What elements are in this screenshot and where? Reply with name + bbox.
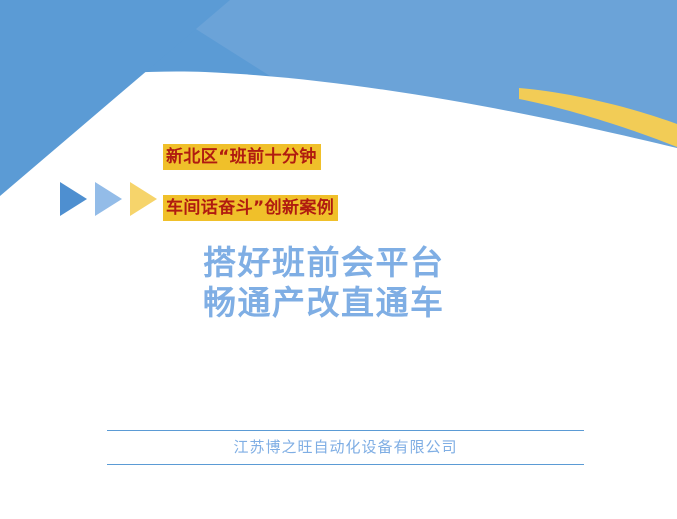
arrow-triangle-light-blue-icon [95, 182, 122, 216]
footer-rule-bottom [107, 464, 584, 465]
title-line-2: 畅通产改直通车 [203, 283, 623, 323]
page-title: 搭好班前会平台 畅通产改直通车 [203, 243, 623, 323]
blue-accent-wedge [150, 0, 677, 150]
footer-company-name: 江苏博之旺自动化设备有限公司 [107, 431, 584, 464]
blue-backdrop-shape [0, 0, 677, 200]
arrow-triangle-dark-blue-icon [60, 182, 87, 216]
eyebrow-line-1-text: 新北区“班前十分钟 [163, 144, 321, 170]
slide-canvas: 新北区“班前十分钟 车间话奋斗”创新案例 搭好班前会平台 畅通产改直通车 江苏博… [0, 0, 677, 519]
arrow-triangle-gold-icon [130, 182, 157, 216]
footer-block: 江苏博之旺自动化设备有限公司 [107, 430, 584, 465]
arrow-triangle-group [58, 182, 168, 220]
eyebrow-line-1: 新北区“班前十分钟 [163, 144, 321, 170]
eyebrow-line-2: 车间话奋斗”创新案例 [163, 195, 338, 221]
title-line-1: 搭好班前会平台 [203, 243, 623, 283]
eyebrow-line-2-text: 车间话奋斗”创新案例 [163, 195, 338, 221]
gold-swoosh-shape [519, 88, 677, 147]
